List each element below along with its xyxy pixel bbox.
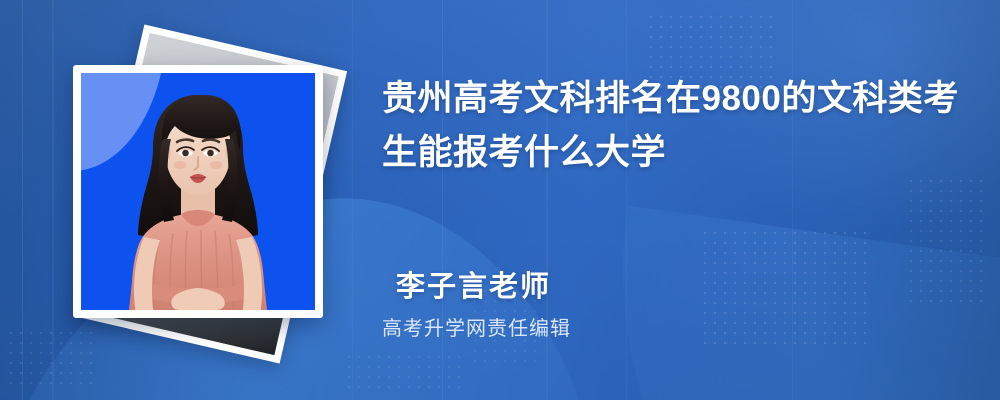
byline: 李子言老师 高考升学网责任编辑 — [382, 268, 571, 344]
author-name: 李子言老师 — [396, 268, 571, 306]
photo-card-front — [73, 65, 323, 318]
portrait-illustration — [81, 73, 315, 310]
author-role: 高考升学网责任编辑 — [382, 314, 571, 344]
page-title: 贵州高考文科排名在9800的文科类考生能报考什么大学 — [382, 72, 962, 180]
photo-card-stack — [0, 0, 360, 400]
avatar — [81, 73, 315, 310]
cover-text-column: 贵州高考文科排名在9800的文科类考生能报考什么大学 李子言老师 高考升学网责任… — [378, 0, 978, 400]
article-cover-banner: 贵州高考文科排名在9800的文科类考生能报考什么大学 李子言老师 高考升学网责任… — [0, 0, 1000, 400]
